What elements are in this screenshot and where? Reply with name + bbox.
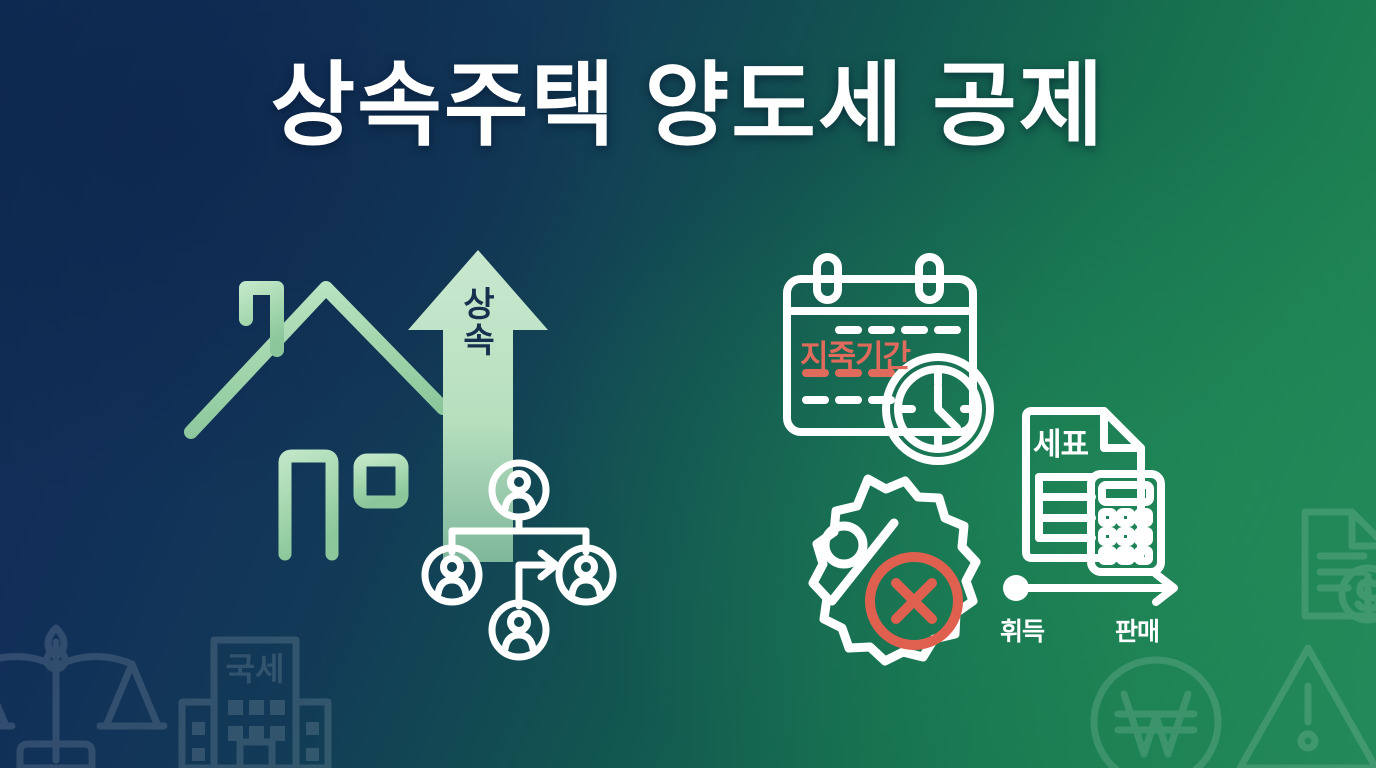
house-window-icon — [360, 460, 402, 502]
calendar-period-label: 지죽기간 — [800, 331, 910, 376]
family-member-child-right — [559, 548, 613, 602]
family-member-child-left — [425, 548, 479, 602]
inheritance-arrow-label: 상 속 — [449, 288, 509, 359]
family-member-child-bottom — [492, 603, 546, 657]
timeline-start-label: 휘득 — [1000, 612, 1044, 648]
inheritance-arrow-label-line1: 상 — [449, 288, 509, 324]
inheritance-arrow-label-line2: 속 — [449, 324, 509, 360]
tax-document-label: 세표 — [1033, 419, 1088, 464]
infographic-canvas: 국세 — [0, 0, 1376, 768]
deduction-denied-icon — [870, 557, 958, 645]
timeline-start-dot — [1003, 575, 1029, 601]
house-door-icon — [285, 456, 332, 554]
calculator-icon — [1091, 474, 1161, 572]
timeline-end-label: 판매 — [1115, 612, 1159, 648]
main-illustration-layer — [0, 0, 1376, 768]
timeline-arrow-icon — [1018, 574, 1174, 602]
house-icon — [191, 288, 443, 554]
